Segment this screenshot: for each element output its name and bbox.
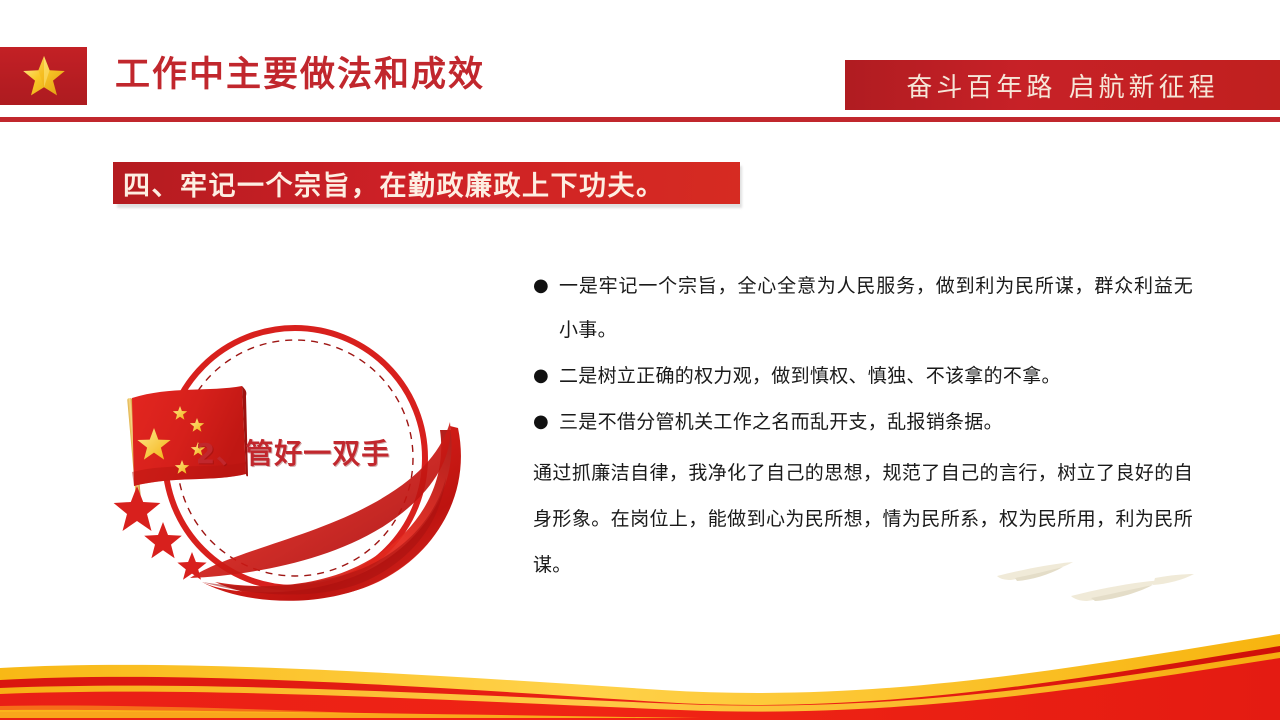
list-item-text: 一是牢记一个宗旨，全心全意为人民服务，做到利为民所谋，群众利益无小事。	[559, 264, 1193, 352]
list-item: ● 一是牢记一个宗旨，全心全意为人民服务，做到利为民所谋，群众利益无小事。	[533, 264, 1193, 352]
list-item: ● 二是树立正确的权力观，做到慎权、慎独、不该拿的不拿。	[533, 354, 1193, 398]
bullet-marker-icon: ●	[533, 354, 559, 398]
section-title-bar: 四、牢记一个宗旨，在勤政廉政上下功夫。	[113, 162, 740, 204]
emblem-graphic: 2、管好一双手	[110, 290, 490, 610]
flying-doves-icon	[995, 558, 1195, 608]
emblem-label: 2、管好一双手	[168, 432, 418, 472]
list-item: ● 三是不借分管机关工作之名而乱开支，乱报销条据。	[533, 400, 1193, 444]
bullet-marker-icon: ●	[533, 400, 559, 444]
star-badge	[0, 47, 87, 105]
header-divider	[0, 117, 1280, 122]
header-slogan-text: 奋斗百年路 启航新征程	[845, 60, 1280, 110]
section-title-text: 四、牢记一个宗旨，在勤政廉政上下功夫。	[113, 164, 665, 203]
list-item-text: 二是树立正确的权力观，做到慎权、慎独、不该拿的不拿。	[559, 354, 1193, 398]
header-slogan-banner: 奋斗百年路 启航新征程	[845, 60, 1280, 110]
list-item-text: 三是不借分管机关工作之名而乱开支，乱报销条据。	[559, 400, 1193, 444]
slide-canvas: 工作中主要做法和成效 奋斗百年路 启航新征程 四、牢记一个宗旨，在勤政廉政上下功…	[0, 0, 1280, 720]
three-stars-icon	[114, 486, 207, 580]
red-gold-wave-icon	[0, 610, 1280, 720]
body-content: ● 一是牢记一个宗旨，全心全意为人民服务，做到利为民所谋，群众利益无小事。 ● …	[533, 264, 1193, 588]
page-title: 工作中主要做法和成效	[115, 53, 485, 98]
slide-header: 工作中主要做法和成效 奋斗百年路 启航新征程	[0, 0, 1280, 130]
bullet-marker-icon: ●	[533, 264, 559, 308]
